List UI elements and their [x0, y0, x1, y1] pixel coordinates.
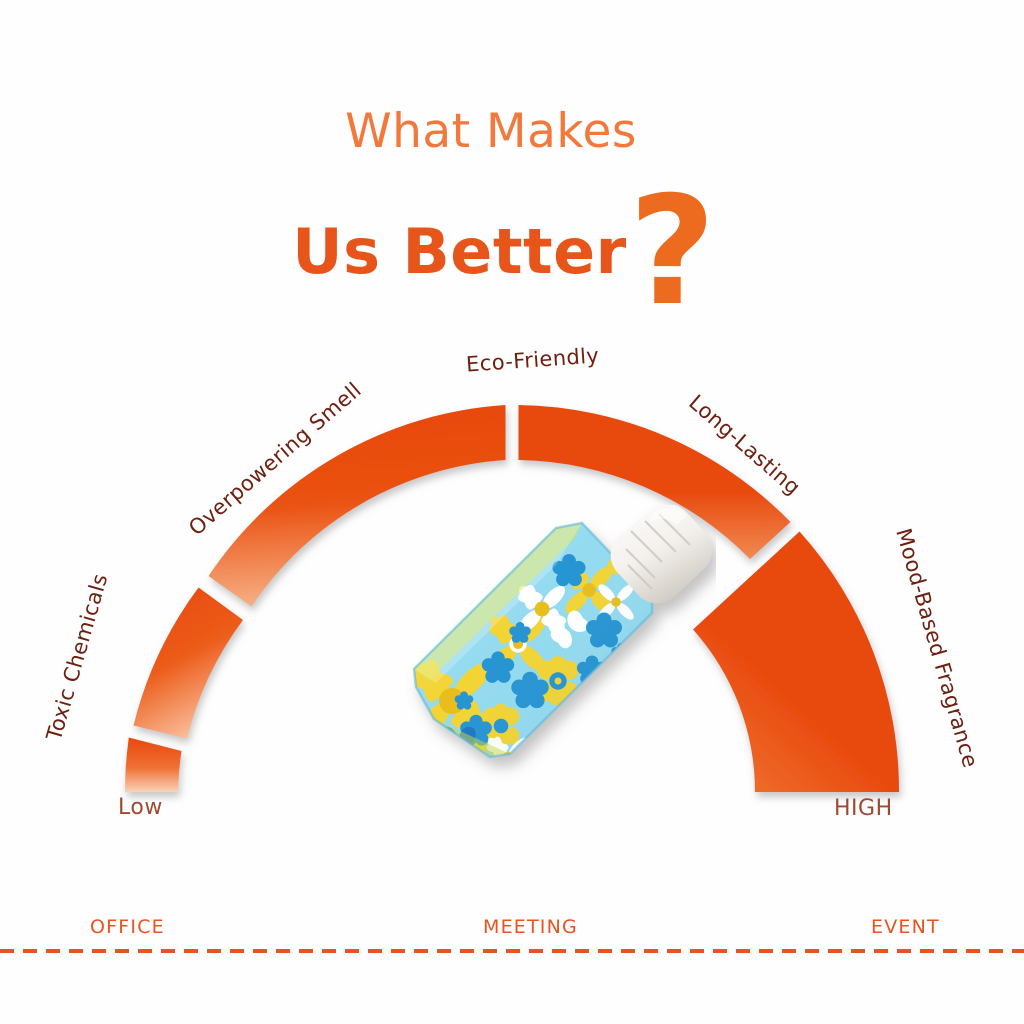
gauge-scale-high: HIGH: [834, 796, 893, 821]
footer-label-meeting: MEETING: [483, 916, 578, 938]
title-line-one: What Makes: [0, 108, 1024, 155]
footer-bar: OFFICE MEETING EVENT: [0, 906, 1024, 966]
gauge-segment-1[interactable]: [125, 738, 182, 793]
footer-label-event: EVENT: [871, 916, 940, 938]
gauge-segment-2[interactable]: [134, 588, 244, 739]
gauge-segment-5[interactable]: [693, 532, 899, 793]
footer-divider: [0, 949, 1024, 953]
product-bottle-image: [406, 505, 716, 835]
page-title: What Makes Us Better?: [0, 108, 1024, 287]
bottle-graphic: [406, 505, 716, 835]
title-line-two: Us Better: [292, 215, 627, 288]
title-line-two-wrap: Us Better?: [0, 159, 1024, 287]
footer-label-office: OFFICE: [90, 916, 165, 938]
gauge-scale-low: Low: [118, 795, 163, 820]
